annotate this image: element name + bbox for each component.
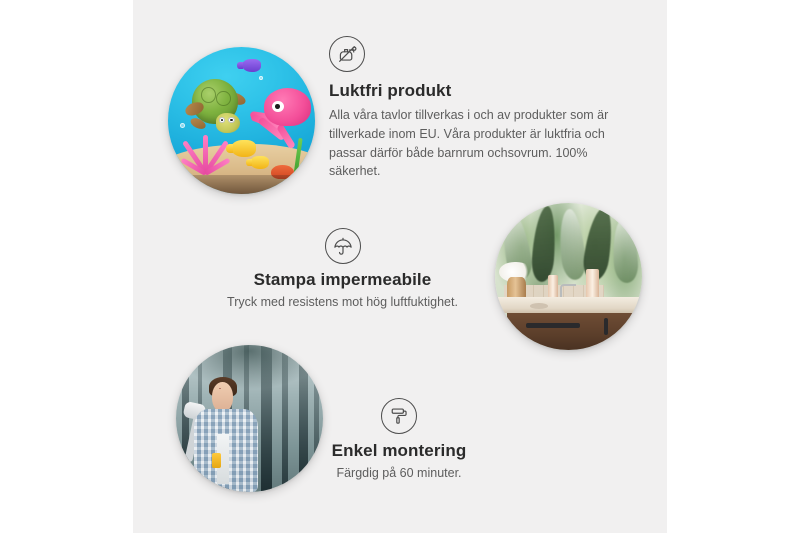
vanity-cabinet (507, 313, 642, 350)
paint-roller-icon (381, 398, 417, 434)
feature-waterproof: Stampa impermeabile Tryck med resistens … (205, 228, 480, 312)
feature-odourless: Luktfri produkt Alla våra tavlor tillver… (329, 36, 621, 181)
bathroom-botanical-photo (495, 203, 642, 350)
plaid-shirt (194, 409, 258, 492)
soap-dish (530, 303, 548, 309)
octopus-illustration (247, 88, 312, 156)
feature-title: Luktfri produkt (329, 81, 621, 101)
underwater-cartoon-photo (168, 47, 315, 194)
promo-banner: Luktfri produkt Alla våra tavlor tillver… (0, 0, 800, 533)
fish-illustration (231, 140, 256, 158)
feature-title: Stampa impermeabile (205, 270, 480, 290)
feature-description: Färgdig på 60 minuter. (289, 464, 509, 483)
fish-illustration (250, 156, 269, 169)
coral-illustration (186, 135, 227, 173)
sea-turtle-illustration (187, 79, 249, 138)
feature-mounting: Enkel montering Färgdig på 60 minuter. (289, 398, 509, 483)
painter-person (191, 377, 273, 492)
no-fragrance-icon (329, 36, 365, 72)
feature-description: Tryck med resistens mot hög luftfuktighe… (205, 293, 480, 312)
umbrella-icon (325, 228, 361, 264)
feature-description: Alla våra tavlor tillverkas i och av pro… (329, 106, 621, 181)
countertop (495, 297, 642, 313)
fish-illustration (242, 59, 261, 72)
paint-can (212, 453, 221, 468)
face (212, 382, 233, 412)
ocean-foreground-shadow (168, 175, 315, 194)
feature-title: Enkel montering (289, 441, 509, 461)
